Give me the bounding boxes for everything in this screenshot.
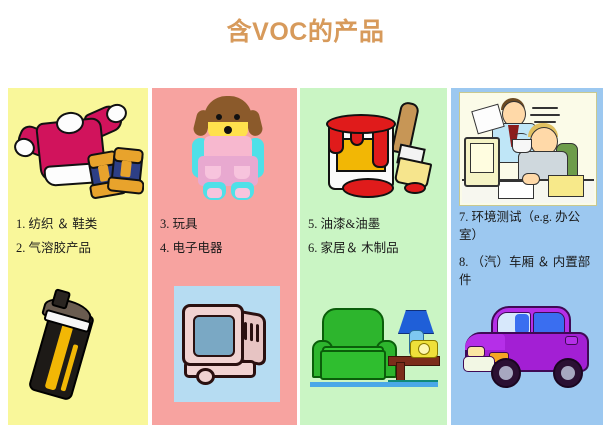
doll-eye-right [234,114,240,120]
list-item: 2. 气溶胶产品 [16,240,142,257]
car-rear-wheel [553,358,583,388]
paint-can-and-brush-image [308,94,440,202]
column-1-caption-list: 1. 纺织 ＆ 鞋类 2. 气溶胶产品 [8,216,148,264]
clothing-shirt-and-boots-image [12,92,144,204]
car-front-bumper [463,356,495,372]
list-item: 5. 油漆&油墨 [308,216,441,233]
car-interior-seat [515,314,529,334]
tv-vent [256,324,259,343]
tv-screen [193,315,235,357]
doll-hair [204,96,252,122]
monitor-screen [470,143,494,173]
list-item: 6. 家居＆ 木制品 [308,240,441,257]
coffee-steam [515,133,527,138]
car-front-wheel [491,358,521,388]
floor-line [310,382,438,387]
desktop-monitor [464,137,500,187]
list-item: 7. 环境测试（e.g. 办公室） [459,208,597,244]
tv-front-bezel [182,304,244,366]
category-column-textiles-aerosols: 1. 纺织 ＆ 鞋类 2. 气溶胶产品 [8,88,148,425]
category-column-toys-electronics: 3. 玩具 4. 电子电器 [152,88,297,425]
list-item: 3. 玩具 [160,216,291,233]
desk-documents [548,175,584,197]
aerosol-spray-can-image [20,286,132,418]
tv-vent [250,323,253,342]
doll-mouth [224,126,232,134]
crt-television-image [174,286,280,402]
category-column-paint-furniture: 5. 油漆&油墨 6. 家居＆ 木制品 [300,88,447,425]
column-4-caption-list: 7. 环境测试（e.g. 办公室） 8. （汽）车厢 ＆ 内置部件 [451,208,603,298]
tv-vent [244,322,247,341]
coffee-cup [512,139,532,153]
car-wheel-hub [499,366,513,380]
doll-pocket-right [234,166,250,179]
doll-pocket-left [205,166,221,179]
motion-line [530,114,560,116]
motion-line [532,107,558,109]
living-room-furniture-image [306,288,442,406]
office-environment-image [459,92,597,206]
list-item: 1. 纺织 ＆ 鞋类 [16,216,142,233]
doll-shoe-inner [235,188,250,198]
column-3-caption-list: 5. 油漆&油墨 6. 家居＆ 木制品 [300,216,447,264]
list-item: 8. （汽）车厢 ＆ 内置部件 [459,253,597,289]
seated-person-hand [522,173,540,185]
doll-shoe-inner [207,188,222,198]
telephone-dial [418,343,430,355]
car-wheel-hub [561,366,575,380]
tv-knob [196,368,215,385]
category-column-environment-automotive: 7. 环境测试（e.g. 办公室） 8. （汽）车厢 ＆ 内置部件 [451,88,603,425]
slide-canvas: 含VOC的产品 1. 纺织 ＆ 鞋类 2. 气溶胶产品 [0,0,611,439]
boot-laces [120,160,132,177]
automobile-sedan-image [457,290,599,408]
car-side-mirror [565,336,578,345]
toy-doll-image [176,94,280,202]
list-item: 4. 电子电器 [160,240,291,257]
page-title: 含VOC的产品 [0,12,611,48]
column-2-caption-list: 3. 玩具 4. 电子电器 [152,216,297,264]
paint-splatter [404,182,426,194]
doll-eye-left [216,114,222,120]
armchair-seat [320,350,386,380]
paint-can-lid [326,114,396,134]
paint-spill-pool [342,178,394,198]
doll-shoe-right [231,182,254,200]
boot-right [110,149,144,190]
doll-shoe-left [203,182,226,200]
